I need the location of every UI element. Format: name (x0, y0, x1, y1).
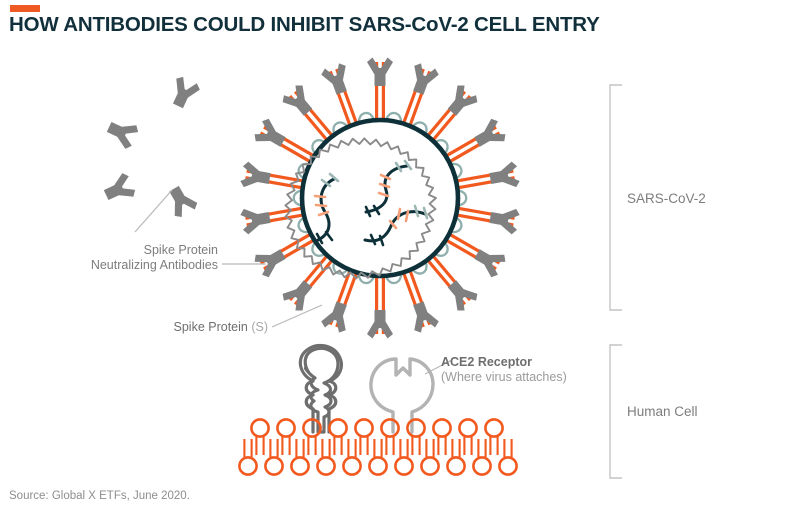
antibody-y-icon (166, 75, 202, 112)
ace2-label-line2: (Where virus attaches) (441, 370, 567, 384)
virus-particle (239, 58, 520, 339)
antibody-label-line2: Neutralizing Antibodies (91, 258, 218, 272)
ace2-label-line1: ACE2 Receptor (441, 355, 532, 369)
ace2-receptor-icon (371, 359, 433, 432)
free-antibody-group (101, 75, 202, 220)
antibody-y-icon (163, 182, 200, 220)
antibody-y-icon (104, 115, 141, 151)
antibody-label-line1: Spike Protein (144, 243, 218, 257)
bracket-label-virus: SARS-CoV-2 (627, 191, 706, 206)
bracket-label-cell: Human Cell (627, 404, 698, 419)
bracket-group (610, 85, 622, 478)
bracket-cell (610, 345, 622, 478)
source-note: Source: Global X ETFs, June 2020. (9, 490, 190, 502)
bracket-virus (610, 85, 622, 310)
spike-protein-label: Spike Protein (S) (174, 320, 269, 334)
spike-protein-label-bold: Spike Protein (174, 320, 248, 334)
spike-protein-label-light: (S) (248, 320, 268, 334)
membrane-bilayer-top (251, 419, 502, 455)
leader-line-antibody-tick (135, 190, 172, 232)
infographic-figure: Spike Protein Neutralizing Antibodies Sp… (0, 0, 800, 519)
antibody-y-icon (101, 171, 138, 207)
membrane-bilayer-bottom (239, 439, 516, 475)
